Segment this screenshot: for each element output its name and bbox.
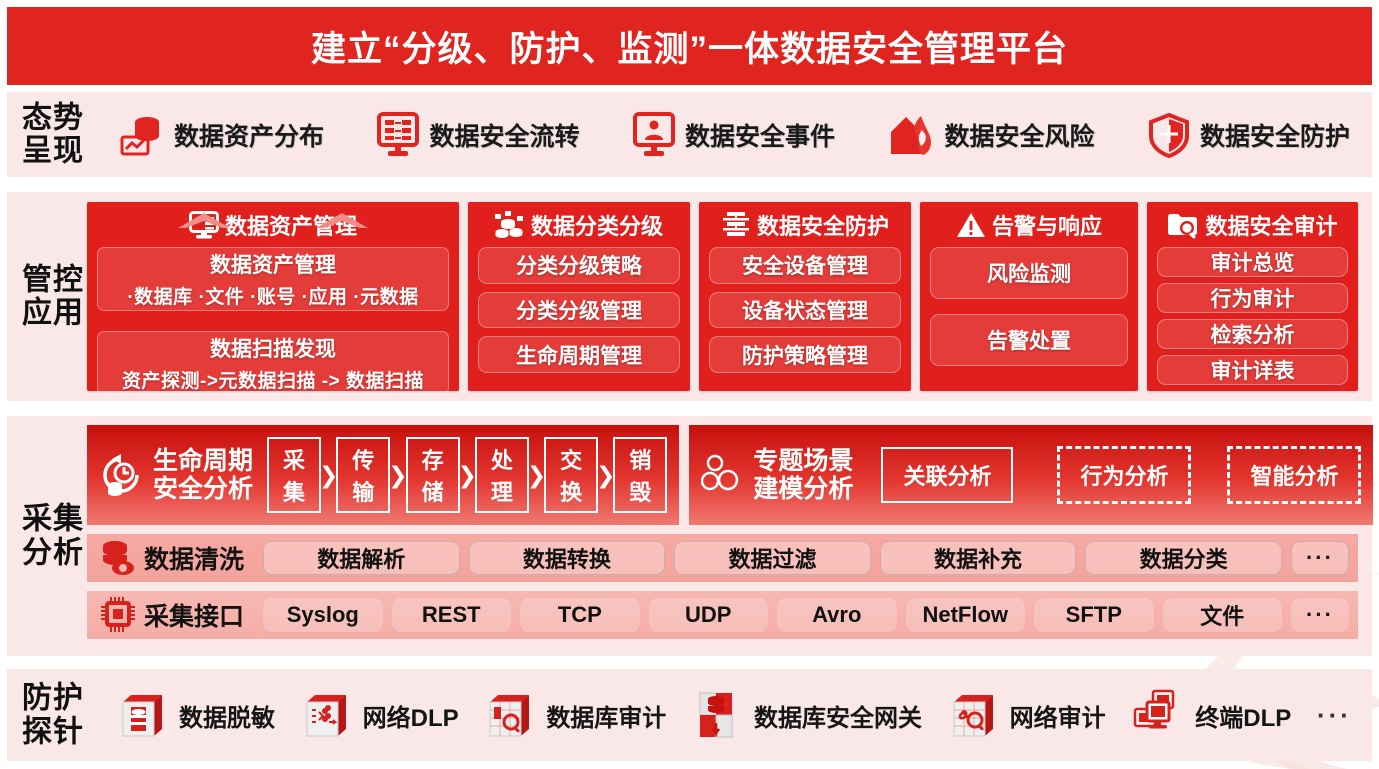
probe-item-db-audit[interactable]: 数据库审计 — [484, 690, 666, 740]
interface-more-button[interactable]: ··· — [1291, 598, 1349, 632]
lifecycle-stage[interactable]: 销毁 — [613, 437, 667, 513]
situation-item-label: 数据安全事件 — [685, 117, 835, 153]
situation-item-label: 数据安全防护 — [1200, 117, 1350, 153]
asset-card-title: 数据资产管理 — [210, 249, 336, 279]
panel-item[interactable]: 审计总览 — [1157, 247, 1348, 277]
panel-item[interactable]: 风险监测 — [930, 247, 1128, 299]
situation-label-line1: 态势 — [19, 101, 87, 135]
probe-band: 防护 探针 数据脱敏 — [7, 669, 1372, 761]
folder-search-icon — [1167, 211, 1199, 239]
probe-item-db-gateway[interactable]: 数据库安全网关 — [692, 689, 922, 741]
interface-label: 采集接口 — [144, 597, 244, 633]
lifecycle-stage[interactable]: 处理 — [475, 437, 529, 513]
situation-band-label: 态势 呈现 — [19, 101, 87, 168]
monitor-person-icon — [632, 112, 676, 158]
probe-item-list: 数据脱敏 网络DLP — [103, 669, 1358, 761]
collection-label-line1: 采集 — [19, 502, 87, 536]
panel-data-asset-management[interactable]: 数据资产管理 数据资产管理 ·数据库 ·文件 ·账号 ·应用 ·元数据 数据扫描… — [87, 202, 459, 391]
layers-shield-icon — [721, 211, 751, 239]
database-eye-icon — [100, 539, 136, 577]
panel-item[interactable]: 告警处置 — [930, 314, 1128, 366]
network-audit-icon — [948, 690, 1000, 740]
collection-band: 采集 分析 — [7, 416, 1372, 656]
situation-item-label: 数据资产分布 — [174, 117, 324, 153]
data-masking-icon — [117, 690, 169, 740]
panel-header: 数据安全防护 — [709, 210, 901, 240]
situation-item-data-security-risk[interactable]: 数据安全风险 — [887, 112, 1094, 158]
situation-item-label: 数据安全流转 — [429, 117, 579, 153]
cleansing-chip[interactable]: 数据解析 — [263, 541, 460, 575]
collection-band-label: 采集 分析 — [19, 502, 87, 569]
probe-item-network-audit[interactable]: 网络审计 — [948, 690, 1106, 740]
scenario-button-correlation[interactable]: 关联分析 — [881, 447, 1013, 503]
scan-card-detail: 资产探测->元数据扫描 -> 数据扫描 — [122, 366, 424, 393]
panel-data-security-audit[interactable]: 数据安全审计 审计总览 行为审计 检索分析 审计详表 — [1147, 202, 1358, 391]
scenario-title-line1: 专题场景 — [753, 447, 853, 475]
panel-item[interactable]: 分类分级管理 — [478, 292, 680, 329]
cleansing-lead: 数据清洗 — [96, 539, 254, 577]
panel-item[interactable]: 检索分析 — [1157, 319, 1348, 349]
analysis-row: 生命周期 安全分析 采集 ❯ 传输 ❯ 存储 ❯ 处理 ❯ 交换 ❯ — [87, 425, 1358, 525]
collection-label-line2: 分析 — [19, 536, 87, 570]
interface-chip[interactable]: NetFlow — [906, 598, 1026, 632]
probe-item-label: 数据库安全网关 — [754, 698, 922, 733]
situation-band: 态势 呈现 数据资产分布 — [7, 92, 1372, 177]
situation-label-line2: 呈现 — [19, 135, 87, 169]
interface-chip[interactable]: 文件 — [1163, 598, 1283, 632]
panel-data-security-protection[interactable]: 数据安全防护 安全设备管理 设备状态管理 防护策略管理 — [699, 202, 911, 391]
clock-database-icon — [99, 452, 143, 498]
panel-title: 数据资产管理 — [225, 209, 357, 241]
cleansing-label: 数据清洗 — [144, 540, 244, 576]
situation-item-label: 数据安全风险 — [944, 117, 1094, 153]
lifecycle-title: 生命周期 安全分析 — [153, 447, 253, 503]
situation-item-data-security-protection[interactable]: 数据安全防护 — [1147, 112, 1350, 158]
panel-item[interactable]: 审计详表 — [1157, 355, 1348, 385]
probe-label-line1: 防护 — [19, 681, 87, 715]
page-title-bar: 建立“分级、防护、监测”一体数据安全管理平台 — [7, 7, 1372, 85]
situation-item-data-security-event[interactable]: 数据安全事件 — [632, 112, 835, 158]
lifecycle-stage[interactable]: 交换 — [544, 437, 598, 513]
probe-item-label: 数据库审计 — [546, 698, 666, 733]
panel-header: 数据资产管理 — [97, 210, 449, 240]
situation-item-data-security-flow[interactable]: 数据安全流转 — [376, 112, 579, 158]
interface-chip[interactable]: Avro — [777, 598, 897, 632]
scenario-title-line2: 建模分析 — [753, 475, 853, 503]
endpoint-dlp-icon — [1131, 689, 1185, 741]
asset-management-card[interactable]: 数据资产管理 ·数据库 ·文件 ·账号 ·应用 ·元数据 — [97, 247, 449, 311]
probe-item-data-masking[interactable]: 数据脱敏 — [117, 690, 275, 740]
interface-chip[interactable]: REST — [392, 598, 512, 632]
scenario-modeling-panel[interactable]: 专题场景 建模分析 关联分析 行为分析 智能分析 — [689, 425, 1373, 525]
data-scan-card[interactable]: 数据扫描发现 资产探测->元数据扫描 -> 数据扫描 — [97, 331, 449, 395]
probe-item-label: 数据脱敏 — [179, 698, 275, 733]
fire-house-icon — [887, 112, 935, 158]
management-band: 管控 应用 数据资产管理 数据资产管理 — [7, 192, 1372, 401]
management-label-line1: 管控 — [19, 263, 87, 297]
lifecycle-stage[interactable]: 采集 — [267, 437, 321, 513]
management-band-label: 管控 应用 — [19, 263, 87, 330]
panel-item[interactable]: 行为审计 — [1157, 283, 1348, 313]
panel-header: 告警与响应 — [930, 210, 1128, 240]
collection-interface-row: 采集接口 Syslog REST TCP UDP Avro NetFlow SF… — [87, 591, 1358, 639]
database-stack-icon — [495, 211, 525, 239]
interface-chip[interactable]: SFTP — [1034, 598, 1154, 632]
probe-item-label: 终端DLP — [1195, 698, 1291, 733]
scenario-title: 专题场景 建模分析 — [753, 447, 853, 503]
probe-item-label: 网络DLP — [363, 698, 459, 733]
cleansing-chip[interactable]: 数据分类 — [1085, 541, 1282, 575]
data-cleansing-row: 数据清洗 数据解析 数据转换 数据过滤 数据补充 数据分类 ··· — [87, 534, 1358, 582]
probe-more-button[interactable]: ··· — [1317, 700, 1352, 731]
probe-item-network-dlp[interactable]: 网络DLP — [301, 690, 459, 740]
panel-alert-response[interactable]: 告警与响应 风险监测 告警处置 — [920, 202, 1138, 391]
lifecycle-stage[interactable]: 存储 — [406, 437, 460, 513]
infographic-page: 建立“分级、防护、监测”一体数据安全管理平台 态势 呈现 数据资产分布 — [0, 0, 1379, 769]
probe-label-line2: 探针 — [19, 715, 87, 749]
interface-chip[interactable]: Syslog — [263, 598, 383, 632]
scan-card-title: 数据扫描发现 — [210, 333, 336, 363]
lifecycle-analysis-panel[interactable]: 生命周期 安全分析 采集 ❯ 传输 ❯ 存储 ❯ 处理 ❯ 交换 ❯ — [87, 425, 679, 525]
db-gateway-icon — [692, 689, 744, 741]
cleansing-chip[interactable]: 数据转换 — [469, 541, 666, 575]
scenario-button-intelligent[interactable]: 智能分析 — [1227, 446, 1361, 504]
panel-item[interactable]: 生命周期管理 — [478, 336, 680, 373]
panel-title: 告警与响应 — [992, 209, 1102, 241]
asset-card-detail: ·数据库 ·文件 ·账号 ·应用 ·元数据 — [127, 282, 418, 309]
panel-item[interactable]: 防护策略管理 — [709, 336, 901, 373]
warning-triangle-icon — [956, 211, 986, 239]
panel-item[interactable]: 分类分级策略 — [478, 247, 680, 284]
cleansing-chip[interactable]: 数据过滤 — [674, 541, 871, 575]
probe-item-endpoint-dlp[interactable]: 终端DLP — [1131, 689, 1291, 741]
cleansing-chip[interactable]: 数据补充 — [880, 541, 1077, 575]
situation-item-list: 数据资产分布 数据安全流转 — [103, 92, 1358, 177]
lifecycle-stage-list: 采集 ❯ 传输 ❯ 存储 ❯ 处理 ❯ 交换 ❯ 销毁 — [267, 437, 667, 513]
panel-header: 数据安全审计 — [1157, 210, 1348, 240]
network-dlp-icon — [301, 690, 353, 740]
panel-data-classification[interactable]: 数据分类分级 分类分级策略 分类分级管理 生命周期管理 — [468, 202, 690, 391]
db-audit-icon — [484, 690, 536, 740]
collection-content: 生命周期 安全分析 采集 ❯ 传输 ❯ 存储 ❯ 处理 ❯ 交换 ❯ — [87, 425, 1358, 647]
interface-chip[interactable]: TCP — [520, 598, 640, 632]
probe-item-label: 网络审计 — [1010, 698, 1106, 733]
interface-lead: 采集接口 — [96, 596, 254, 634]
panel-item[interactable]: 安全设备管理 — [709, 247, 901, 284]
panel-header: 数据分类分级 — [478, 210, 680, 240]
management-panel-list: 数据资产管理 数据资产管理 ·数据库 ·文件 ·账号 ·应用 ·元数据 数据扫描… — [87, 202, 1358, 391]
management-label-line2: 应用 — [19, 297, 87, 331]
chip-icon — [100, 596, 136, 634]
shield-icon — [1147, 112, 1191, 158]
panel-title: 数据分类分级 — [531, 209, 663, 241]
scenario-button-behavior[interactable]: 行为分析 — [1057, 446, 1191, 504]
panel-title: 数据安全防护 — [757, 209, 889, 241]
lifecycle-title-line2: 安全分析 — [153, 475, 253, 503]
lifecycle-title-line1: 生命周期 — [153, 447, 253, 475]
lifecycle-stage[interactable]: 传输 — [336, 437, 390, 513]
probe-band-label: 防护 探针 — [19, 681, 87, 748]
interface-chip[interactable]: UDP — [649, 598, 769, 632]
panel-title: 数据安全审计 — [1205, 209, 1337, 241]
monitor-flow-icon — [376, 112, 420, 158]
database-chart-icon — [117, 111, 165, 159]
panel-item[interactable]: 设备状态管理 — [709, 292, 901, 329]
monitor-list-icon — [189, 211, 219, 239]
cleansing-more-button[interactable]: ··· — [1291, 541, 1349, 575]
page-title: 建立“分级、防护、监测”一体数据安全管理平台 — [311, 21, 1068, 72]
situation-item-data-asset-distribution[interactable]: 数据资产分布 — [117, 111, 324, 159]
molecule-icon — [701, 453, 743, 497]
